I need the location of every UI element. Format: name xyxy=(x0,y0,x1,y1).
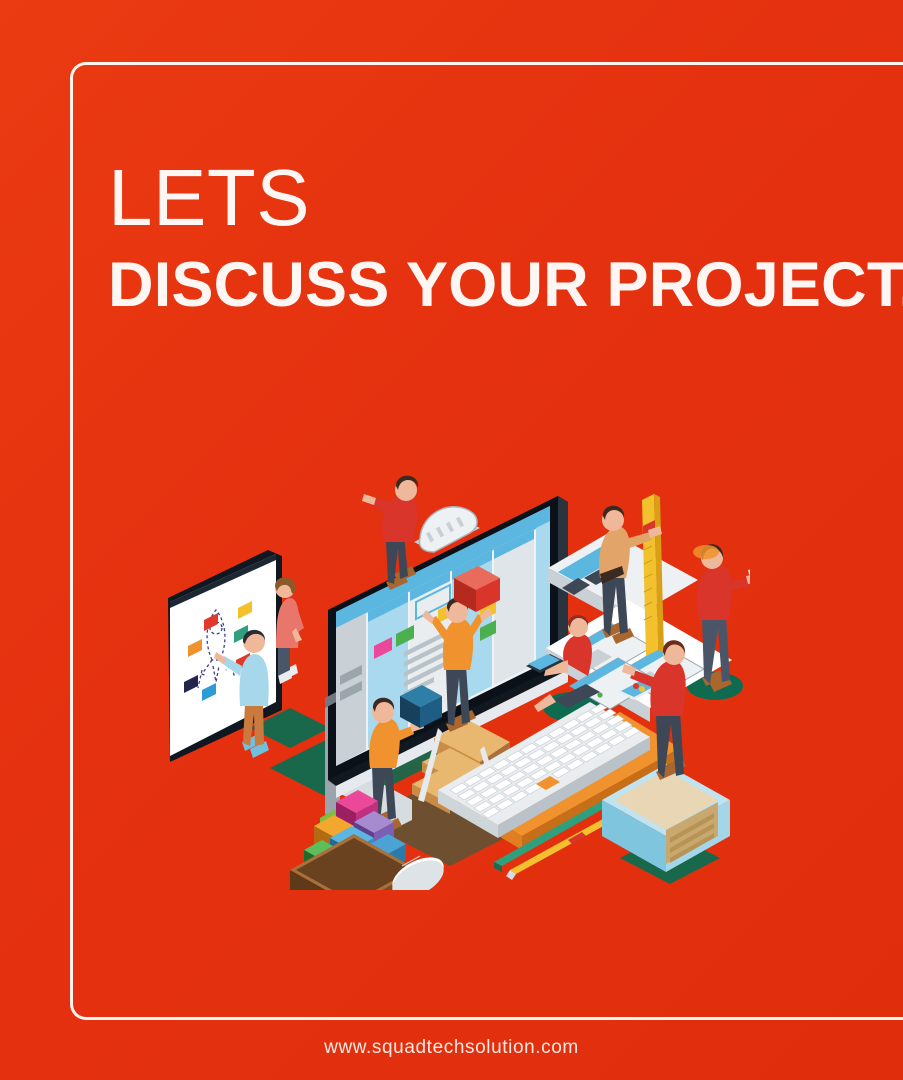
isometric-team-illustration xyxy=(150,470,750,890)
person-whiteboard-standing xyxy=(275,577,304,684)
frame-top-line xyxy=(86,62,903,65)
frame-left-line xyxy=(70,78,73,1003)
footer-website-url[interactable]: www.squadtechsolution.com xyxy=(0,1037,903,1059)
headline-line-1: LETS xyxy=(108,158,903,238)
headline-line-2: DISCUSS YOUR PROJECT. xyxy=(108,254,903,317)
headline-block: LETS DISCUSS YOUR PROJECT. xyxy=(108,158,903,317)
frame-corner-top-left xyxy=(70,62,87,79)
person-on-monitor-top xyxy=(362,476,418,590)
frame-bottom-line xyxy=(86,1017,903,1020)
poster-canvas: LETS DISCUSS YOUR PROJECT. xyxy=(0,0,903,1080)
frame-corner-bottom-left xyxy=(70,1003,87,1020)
